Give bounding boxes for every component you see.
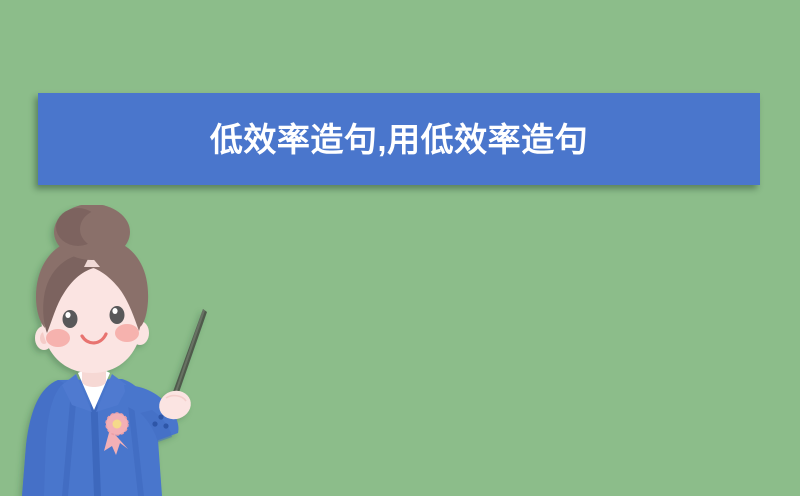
page-title: 低效率造句,用低效率造句 bbox=[210, 123, 588, 156]
head-group bbox=[35, 205, 149, 373]
slide-canvas: 低效率造句,用低效率造句 bbox=[0, 0, 800, 496]
pointer-stick bbox=[170, 309, 207, 401]
jacket-group bbox=[22, 368, 179, 496]
title-banner: 低效率造句,用低效率造句 bbox=[38, 93, 760, 185]
cartoon-teacher-illustration bbox=[0, 205, 260, 496]
